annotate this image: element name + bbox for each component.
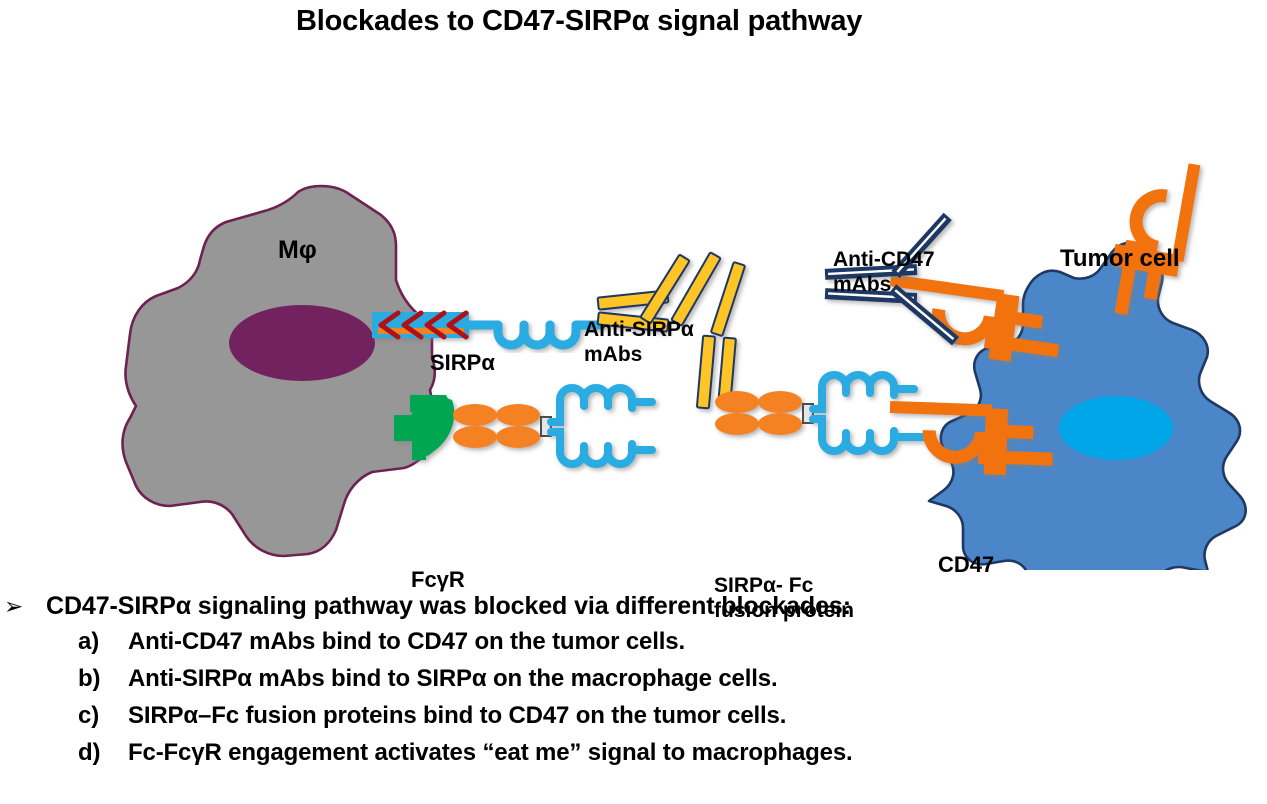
cd47-receptor-free bbox=[1104, 153, 1201, 323]
label-tumor-cell: Tumor cell bbox=[1060, 245, 1180, 273]
list-item: a) Anti-CD47 mAbs bind to CD47 on the tu… bbox=[0, 630, 1267, 654]
list-item-marker: d) bbox=[78, 741, 100, 765]
list-item-marker: a) bbox=[78, 630, 99, 654]
bullet-main: ➢ CD47-SIRPα signaling pathway was block… bbox=[0, 594, 1267, 619]
label-anti-cd47-mabs: Anti-CD47 mAbs bbox=[833, 248, 935, 298]
list-item-marker: b) bbox=[78, 667, 100, 691]
label-cd47: CD47 bbox=[938, 552, 994, 578]
fusion-sirpa-coils bbox=[551, 388, 652, 464]
label-fc-gamma-r: FcγR bbox=[411, 567, 465, 593]
label-anti-sirpa-mabs: Anti-SIRPα mAbs bbox=[584, 318, 694, 368]
list-item-text: SIRPα–Fc fusion proteins bind to CD47 on… bbox=[128, 702, 786, 729]
label-macrophage: Mφ bbox=[278, 236, 317, 266]
page-title: Blockades to CD47-SIRPα signal pathway bbox=[296, 2, 916, 41]
list-item-text: Fc-FcγR engagement activates “eat me” si… bbox=[128, 739, 853, 766]
bullet-main-text: CD47-SIRPα signaling pathway was blocked… bbox=[46, 592, 851, 620]
list-item-text: Anti-SIRPα mAbs bind to SIRPα on the mac… bbox=[128, 665, 778, 692]
sirpa-extracellular-coil bbox=[466, 325, 600, 345]
bullet-arrow-icon: ➢ bbox=[4, 595, 23, 618]
list-item: b) Anti-SIRPα mAbs bind to SIRPα on the … bbox=[0, 667, 1267, 691]
label-sirpa: SIRPα bbox=[430, 350, 495, 376]
fc-domain-orange bbox=[715, 391, 802, 435]
fc-domain-orange bbox=[453, 404, 540, 448]
macrophage-nucleus bbox=[229, 305, 375, 381]
sirpa-itim-domain bbox=[372, 312, 469, 338]
bullet-list: ➢ CD47-SIRPα signaling pathway was block… bbox=[0, 594, 1267, 778]
list-item-text: Anti-CD47 mAbs bind to CD47 on the tumor… bbox=[128, 628, 685, 655]
sirpa-fc-fusion-protein-bound bbox=[453, 388, 652, 464]
list-item: c) SIRPα–Fc fusion proteins bind to CD47… bbox=[0, 704, 1267, 728]
slide-canvas: Blockades to CD47-SIRPα signal pathway bbox=[0, 0, 1267, 804]
list-item-marker: c) bbox=[78, 704, 99, 728]
tumor-nucleus bbox=[1059, 396, 1173, 460]
list-item: d) Fc-FcγR engagement activates “eat me”… bbox=[0, 741, 1267, 765]
sub-bullet-list: a) Anti-CD47 mAbs bind to CD47 on the tu… bbox=[0, 630, 1267, 765]
diagram-figure: Mφ SIRPα Anti-SIRPα mAbs Anti-CD47 mAbs … bbox=[0, 100, 1267, 570]
